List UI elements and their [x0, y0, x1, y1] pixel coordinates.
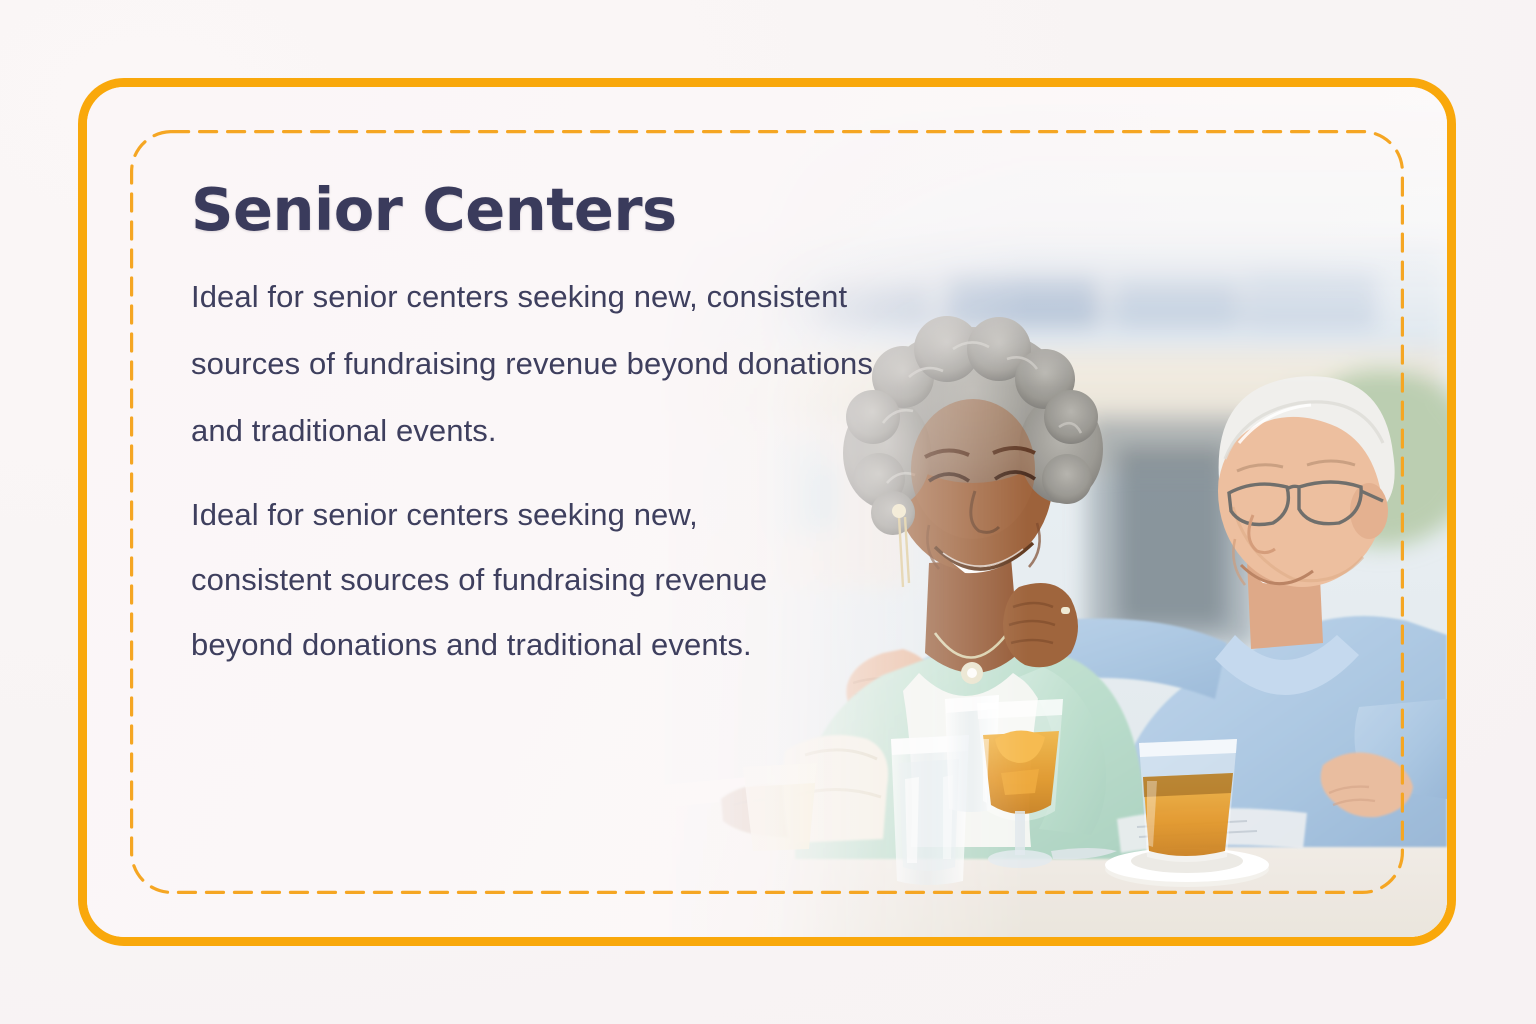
page-canvas: Senior Centers Ideal for senior centers …	[0, 0, 1536, 1024]
description-paragraph-1: Ideal for senior centers seeking new, co…	[191, 263, 891, 464]
feature-card: Senior Centers Ideal for senior centers …	[78, 78, 1456, 946]
card-content: Senior Centers Ideal for senior centers …	[191, 179, 931, 687]
description-paragraph-2: Ideal for senior centers seeking new, co…	[191, 482, 771, 677]
page-title: Senior Centers	[191, 179, 931, 241]
